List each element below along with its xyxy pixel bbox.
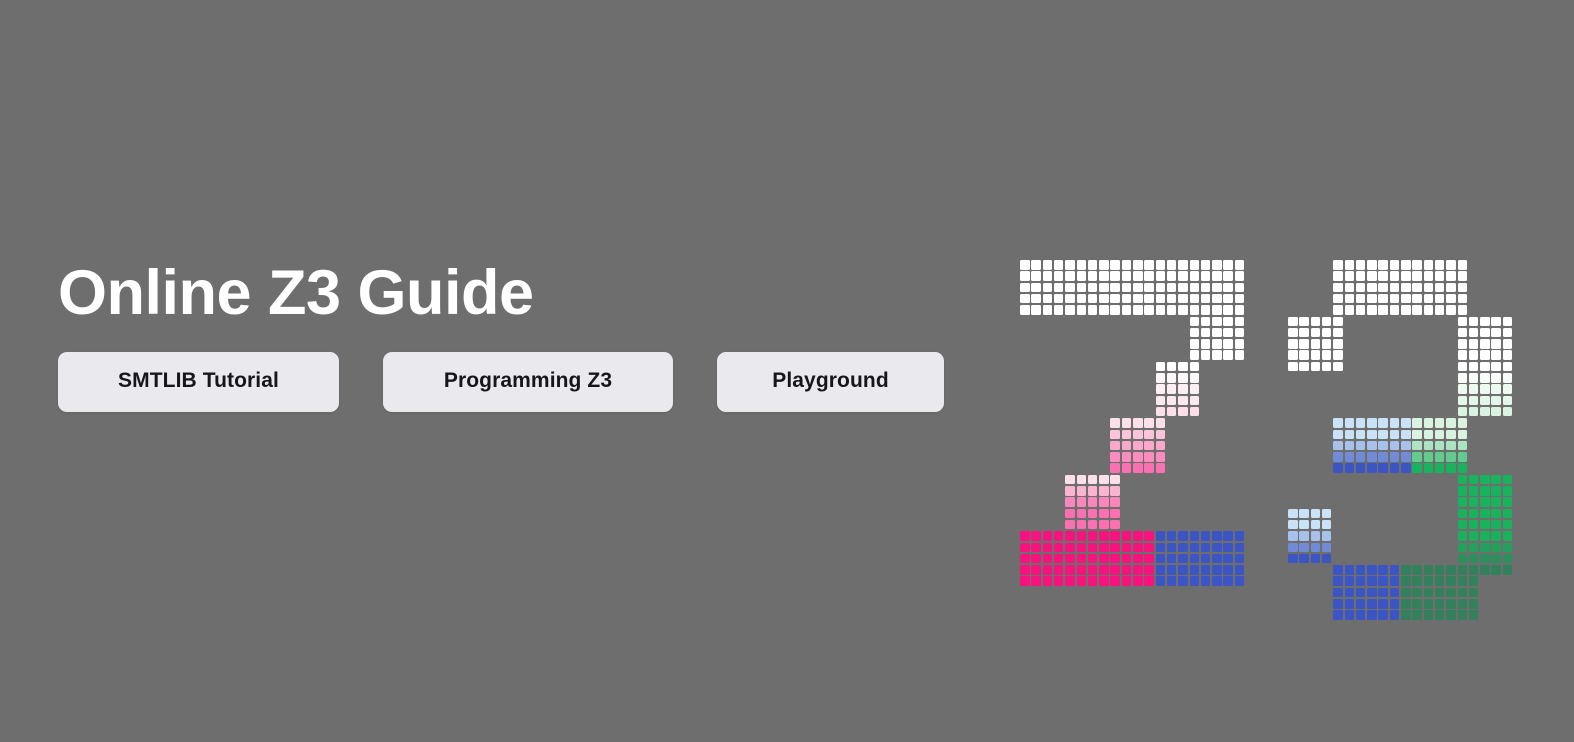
logo-cell (1156, 565, 1166, 575)
logo-cell (1333, 610, 1343, 620)
logo-cell (1223, 317, 1233, 327)
logo-cell (1122, 565, 1132, 575)
logo-cell (1401, 610, 1411, 620)
logo-cell (1020, 576, 1030, 586)
logo-cell (1167, 407, 1177, 417)
logo-cell (1235, 339, 1245, 349)
logo-cell (1503, 509, 1513, 519)
logo-cell (1503, 486, 1513, 496)
logo-cell (1435, 588, 1445, 598)
logo-cell (1345, 576, 1355, 586)
playground-button[interactable]: Playground (717, 352, 944, 412)
logo-cell (1424, 305, 1434, 315)
logo-cell (1480, 339, 1490, 349)
logo-cell (1480, 350, 1490, 360)
logo-cell (1333, 305, 1343, 315)
logo-cell (1503, 565, 1513, 575)
logo-cell (1122, 430, 1132, 440)
logo-cell (1367, 430, 1377, 440)
logo-cell (1356, 294, 1366, 304)
logo-cell (1367, 463, 1377, 473)
logo-cell (1378, 452, 1388, 462)
logo-cell (1458, 576, 1468, 586)
logo-cell (1480, 486, 1490, 496)
logo-cell (1378, 418, 1388, 428)
logo-cell (1412, 260, 1422, 270)
logo-cell (1212, 283, 1222, 293)
logo-cell (1212, 350, 1222, 360)
logo-cell (1167, 565, 1177, 575)
logo-cell (1133, 305, 1143, 315)
logo-cell (1043, 260, 1053, 270)
logo-cell (1322, 554, 1332, 564)
logo-cell (1469, 497, 1479, 507)
logo-cell (1401, 305, 1411, 315)
logo-cell (1333, 350, 1343, 360)
logo-cell (1178, 294, 1188, 304)
logo-cell (1190, 543, 1200, 553)
logo-cell (1412, 430, 1422, 440)
logo-cell (1099, 531, 1109, 541)
logo-cell (1401, 588, 1411, 598)
logo-cell (1223, 339, 1233, 349)
logo-cell (1503, 543, 1513, 553)
logo-cell (1178, 554, 1188, 564)
logo-cell (1311, 531, 1321, 541)
logo-cell (1099, 497, 1109, 507)
logo-cell (1223, 328, 1233, 338)
logo-cell (1299, 350, 1309, 360)
logo-cell (1020, 305, 1030, 315)
logo-cell (1469, 475, 1479, 485)
logo-cell (1110, 531, 1120, 541)
logo-cell (1099, 554, 1109, 564)
logo-cell (1133, 294, 1143, 304)
logo-cell (1190, 554, 1200, 564)
logo-cell (1156, 554, 1166, 564)
logo-cell (1288, 339, 1298, 349)
logo-cell (1333, 260, 1343, 270)
logo-cell (1043, 576, 1053, 586)
logo-cell (1491, 531, 1501, 541)
logo-cell (1356, 452, 1366, 462)
logo-cell (1435, 305, 1445, 315)
logo-cell (1458, 328, 1468, 338)
logo-cell (1458, 430, 1468, 440)
logo-cell (1458, 283, 1468, 293)
logo-cell (1446, 294, 1456, 304)
logo-cell (1458, 543, 1468, 553)
logo-cell (1345, 565, 1355, 575)
logo-cell (1156, 384, 1166, 394)
logo-cell (1144, 565, 1154, 575)
logo-cell (1412, 418, 1422, 428)
logo-cell (1190, 260, 1200, 270)
logo-cell (1345, 610, 1355, 620)
logo-cell (1480, 407, 1490, 417)
logo-cell (1099, 509, 1109, 519)
logo-cell (1031, 283, 1041, 293)
logo-cell (1345, 260, 1355, 270)
logo-cell (1235, 531, 1245, 541)
logo-cell (1458, 486, 1468, 496)
logo-cell (1390, 588, 1400, 598)
logo-cell (1133, 271, 1143, 281)
logo-cell (1299, 317, 1309, 327)
logo-cell (1356, 305, 1366, 315)
logo-cell (1235, 317, 1245, 327)
logo-cell (1201, 531, 1211, 541)
logo-cell (1480, 554, 1490, 564)
logo-cell (1167, 362, 1177, 372)
logo-cell (1212, 328, 1222, 338)
logo-cell (1212, 554, 1222, 564)
logo-cell (1235, 271, 1245, 281)
logo-cell (1201, 283, 1211, 293)
logo-cell (1458, 339, 1468, 349)
logo-cell (1299, 520, 1309, 530)
logo-cell (1491, 509, 1501, 519)
logo-cell (1480, 565, 1490, 575)
logo-cell (1446, 418, 1456, 428)
logo-cell (1424, 610, 1434, 620)
logo-cell (1020, 531, 1030, 541)
logo-cell (1178, 271, 1188, 281)
logo-cell (1077, 543, 1087, 553)
logo-cell (1031, 543, 1041, 553)
logo-cell (1054, 271, 1064, 281)
logo-cell (1458, 418, 1468, 428)
logo-cell (1480, 328, 1490, 338)
logo-cell (1458, 531, 1468, 541)
logo-cell (1043, 543, 1053, 553)
logo-cell (1299, 339, 1309, 349)
logo-cell (1156, 362, 1166, 372)
logo-cell (1088, 271, 1098, 281)
logo-cell (1099, 294, 1109, 304)
logo-cell (1065, 305, 1075, 315)
logo-cell (1235, 543, 1245, 553)
logo-cell (1333, 441, 1343, 451)
logo-cell (1190, 362, 1200, 372)
logo-cell (1333, 283, 1343, 293)
logo-cell (1201, 260, 1211, 270)
logo-cell (1099, 520, 1109, 530)
logo-cell (1212, 565, 1222, 575)
logo-cell (1469, 373, 1479, 383)
logo-cell (1054, 554, 1064, 564)
logo-cell (1367, 260, 1377, 270)
logo-cell (1288, 317, 1298, 327)
logo-cell (1122, 441, 1132, 451)
logo-cell (1133, 576, 1143, 586)
logo-cell (1088, 475, 1098, 485)
logo-cell (1424, 441, 1434, 451)
logo-cell (1412, 588, 1422, 598)
logo-cell (1110, 452, 1120, 462)
logo-cell (1378, 430, 1388, 440)
logo-cell (1201, 305, 1211, 315)
logo-cell (1122, 260, 1132, 270)
logo-cell (1401, 283, 1411, 293)
logo-cell (1491, 350, 1501, 360)
logo-cell (1390, 452, 1400, 462)
logo-cell (1122, 531, 1132, 541)
logo-cell (1088, 576, 1098, 586)
logo-cell (1065, 294, 1075, 304)
logo-cell (1333, 294, 1343, 304)
logo-cell (1424, 430, 1434, 440)
logo-cell (1435, 271, 1445, 281)
logo-cell (1167, 305, 1177, 315)
logo-cell (1212, 531, 1222, 541)
logo-cell (1299, 509, 1309, 519)
logo-cell (1223, 260, 1233, 270)
logo-cell (1077, 260, 1087, 270)
logo-cell (1333, 317, 1343, 327)
logo-cell (1390, 271, 1400, 281)
logo-cell (1333, 362, 1343, 372)
logo-cell (1401, 260, 1411, 270)
logo-cell (1043, 294, 1053, 304)
logo-cell (1367, 452, 1377, 462)
logo-cell (1345, 305, 1355, 315)
logo-cell (1446, 260, 1456, 270)
logo-cell (1156, 463, 1166, 473)
logo-cell (1412, 565, 1422, 575)
logo-cell (1156, 418, 1166, 428)
logo-cell (1133, 531, 1143, 541)
logo-cell (1201, 339, 1211, 349)
logo-cell (1390, 565, 1400, 575)
logo-cell (1333, 463, 1343, 473)
logo-cell (1390, 418, 1400, 428)
logo-cell (1088, 543, 1098, 553)
logo-cell (1167, 260, 1177, 270)
logo-cell (1065, 554, 1075, 564)
logo-cell (1446, 565, 1456, 575)
logo-cell (1223, 565, 1233, 575)
smtlib-tutorial-button[interactable]: SMTLIB Tutorial (58, 352, 339, 412)
logo-cell (1167, 271, 1177, 281)
logo-cell (1144, 531, 1154, 541)
logo-cell (1345, 418, 1355, 428)
logo-cell (1190, 328, 1200, 338)
logo-cell (1322, 339, 1332, 349)
logo-cell (1480, 373, 1490, 383)
logo-cell (1480, 531, 1490, 541)
logo-cell (1503, 520, 1513, 530)
logo-cell (1110, 260, 1120, 270)
logo-cell (1322, 362, 1332, 372)
logo-cell (1435, 576, 1445, 586)
logo-cell (1133, 441, 1143, 451)
logo-cell (1212, 576, 1222, 586)
logo-cell (1054, 283, 1064, 293)
logo-cell (1223, 350, 1233, 360)
logo-cell (1099, 486, 1109, 496)
logo-cell (1077, 554, 1087, 564)
logo-cell (1178, 576, 1188, 586)
logo-cell (1356, 430, 1366, 440)
logo-cell (1469, 543, 1479, 553)
logo-cell (1401, 294, 1411, 304)
logo-cell (1458, 441, 1468, 451)
logo-cell (1469, 520, 1479, 530)
logo-cell (1458, 271, 1468, 281)
logo-cell (1503, 554, 1513, 564)
logo-cell (1458, 407, 1468, 417)
logo-cell (1099, 543, 1109, 553)
logo-cell (1412, 610, 1422, 620)
logo-cell (1178, 305, 1188, 315)
logo-cell (1424, 418, 1434, 428)
logo-cell (1223, 294, 1233, 304)
logo-cell (1144, 543, 1154, 553)
logo-cell (1144, 463, 1154, 473)
logo-cell (1201, 543, 1211, 553)
logo-cell (1458, 520, 1468, 530)
logo-cell (1435, 283, 1445, 293)
logo-cell (1099, 260, 1109, 270)
logo-cell (1110, 520, 1120, 530)
logo-cell (1446, 576, 1456, 586)
logo-cell (1356, 610, 1366, 620)
logo-cell (1088, 565, 1098, 575)
logo-cell (1288, 362, 1298, 372)
logo-cell (1043, 554, 1053, 564)
logo-cell (1110, 418, 1120, 428)
logo-cell (1031, 294, 1041, 304)
logo-cell (1054, 576, 1064, 586)
logo-cell (1122, 418, 1132, 428)
logo-cell (1491, 475, 1501, 485)
logo-cell (1133, 463, 1143, 473)
logo-cell (1311, 350, 1321, 360)
logo-cell (1144, 430, 1154, 440)
logo-cell (1156, 305, 1166, 315)
logo-cell (1435, 463, 1445, 473)
logo-cell (1156, 396, 1166, 406)
logo-cell (1077, 475, 1087, 485)
logo-cell (1178, 407, 1188, 417)
logo-cell (1458, 463, 1468, 473)
logo-cell (1469, 317, 1479, 327)
logo-cell (1412, 305, 1422, 315)
logo-cell (1212, 305, 1222, 315)
z3-logo (1020, 260, 1520, 585)
logo-cell (1480, 509, 1490, 519)
logo-cell (1503, 396, 1513, 406)
logo-cell (1190, 407, 1200, 417)
logo-cell (1333, 565, 1343, 575)
logo-cell (1178, 543, 1188, 553)
logo-cell (1201, 565, 1211, 575)
logo-cell (1110, 554, 1120, 564)
logo-cell (1223, 305, 1233, 315)
logo-cell (1235, 350, 1245, 360)
logo-cell (1469, 339, 1479, 349)
logo-cell (1031, 305, 1041, 315)
logo-cell (1065, 509, 1075, 519)
logo-cell (1311, 339, 1321, 349)
logo-cell (1099, 305, 1109, 315)
logo-cell (1322, 509, 1332, 519)
logo-cell (1178, 384, 1188, 394)
logo-cell (1390, 305, 1400, 315)
logo-cell (1322, 543, 1332, 553)
logo-cell (1390, 441, 1400, 451)
logo-cell (1190, 350, 1200, 360)
logo-cell (1333, 588, 1343, 598)
logo-cell (1491, 384, 1501, 394)
logo-cell (1065, 520, 1075, 530)
logo-cell (1178, 396, 1188, 406)
logo-cell (1378, 305, 1388, 315)
logo-cell (1401, 599, 1411, 609)
logo-cell (1122, 554, 1132, 564)
logo-cell (1235, 294, 1245, 304)
logo-cell (1333, 599, 1343, 609)
logo-cell (1378, 610, 1388, 620)
logo-cell (1458, 373, 1468, 383)
logo-cell (1458, 260, 1468, 270)
logo-cell (1122, 305, 1132, 315)
logo-cell (1065, 271, 1075, 281)
logo-cell (1156, 543, 1166, 553)
logo-cell (1077, 531, 1087, 541)
logo-cell (1156, 576, 1166, 586)
logo-cell (1469, 396, 1479, 406)
logo-cell (1190, 294, 1200, 304)
logo-cell (1156, 452, 1166, 462)
logo-cell (1110, 486, 1120, 496)
logo-cell (1503, 339, 1513, 349)
logo-cell (1469, 384, 1479, 394)
logo-cell (1469, 599, 1479, 609)
programming-z3-button[interactable]: Programming Z3 (383, 352, 673, 412)
logo-cell (1345, 283, 1355, 293)
logo-cell (1446, 452, 1456, 462)
logo-cell (1378, 260, 1388, 270)
logo-cell (1469, 588, 1479, 598)
logo-cell (1469, 531, 1479, 541)
logo-cell (1077, 509, 1087, 519)
logo-cell (1043, 531, 1053, 541)
logo-cell (1401, 463, 1411, 473)
logo-cell (1503, 384, 1513, 394)
logo-cell (1480, 475, 1490, 485)
logo-cell (1167, 384, 1177, 394)
logo-cell (1435, 599, 1445, 609)
logo-cell (1491, 497, 1501, 507)
logo-cell (1156, 283, 1166, 293)
logo-cell (1167, 531, 1177, 541)
logo-cell (1020, 554, 1030, 564)
logo-cell (1223, 554, 1233, 564)
logo-cell (1212, 294, 1222, 304)
logo-cell (1333, 452, 1343, 462)
logo-cell (1435, 418, 1445, 428)
logo-cell (1458, 305, 1468, 315)
logo-cell (1299, 531, 1309, 541)
logo-cell (1401, 418, 1411, 428)
logo-cell (1201, 317, 1211, 327)
logo-cell (1378, 271, 1388, 281)
logo-cell (1054, 543, 1064, 553)
logo-cell (1156, 441, 1166, 451)
logo-cell (1088, 497, 1098, 507)
